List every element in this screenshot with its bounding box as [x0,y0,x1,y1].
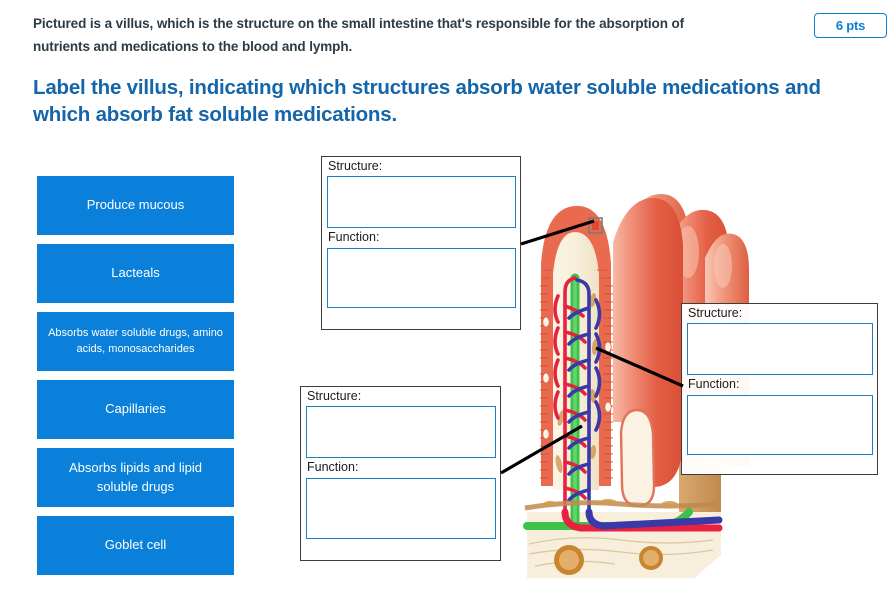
question-stem-text: Pictured is a villus, which is the struc… [33,12,733,58]
answer-box-3-structure-label: Structure: [682,304,877,323]
bank-item-goblet-cell[interactable]: Goblet cell [37,516,234,575]
answer-box-2-function-slot[interactable] [306,478,496,539]
bank-item-produce-mucous[interactable]: Produce mucous [37,176,234,235]
points-badge: 6 pts [814,13,887,38]
answer-box-3-function-label: Function: [682,375,877,394]
bank-item-absorbs-lipids[interactable]: Absorbs lipids and lipid soluble drugs [37,448,234,507]
answer-box-2-structure-label: Structure: [301,387,500,406]
answer-bank-list: Produce mucous Lacteals Absorbs water so… [37,176,234,584]
answer-box-1-structure-label: Structure: [322,157,520,176]
answer-box-3-function-slot[interactable] [687,395,873,455]
bank-item-lacteals[interactable]: Lacteals [37,244,234,303]
answer-box-2-structure-slot[interactable] [306,406,496,458]
lobe-highlight-3 [714,244,732,288]
answer-box-1-function-label: Function: [322,228,520,247]
answer-box-2-function-label: Function: [301,458,500,477]
tip-marker-fill [592,221,599,230]
bank-item-absorbs-water-soluble[interactable]: Absorbs water soluble drugs, amino acids… [37,312,234,371]
answer-box-3-structure-slot[interactable] [687,323,873,375]
answer-box-1-function-slot[interactable] [327,248,516,308]
task-instruction-heading: Label the villus, indicating which struc… [33,74,833,128]
answer-box-2: Structure: Function: [300,386,501,561]
answer-box-1: Structure: Function: [321,156,521,330]
answer-box-1-structure-slot[interactable] [327,176,516,228]
bank-item-capillaries[interactable]: Capillaries [37,380,234,439]
intestinal-crypt [621,410,654,506]
answer-box-3: Structure: Function: [681,303,878,475]
